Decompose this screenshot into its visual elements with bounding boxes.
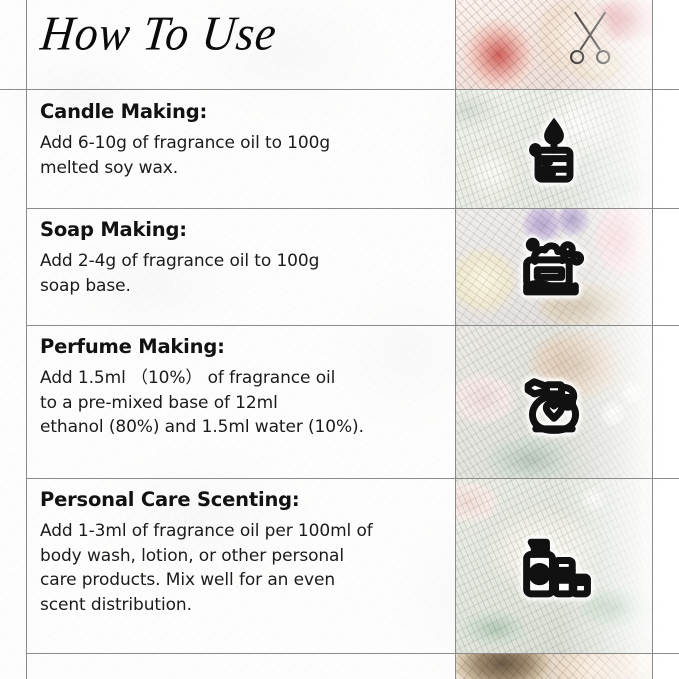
body-line: to a pre-mixed base of 12ml [40, 391, 440, 416]
section-candle-making: Candle Making: Add 6-10g of fragrance oi… [40, 100, 440, 180]
body-line: Add 6-10g of fragrance oil to 100g [40, 131, 440, 156]
section-body-candle-making: Add 6-10g of fragrance oil to 100g melte… [40, 131, 440, 180]
left-margin-rule [26, 0, 27, 679]
divider-soap-perfume [26, 325, 679, 326]
divider-under-title [0, 89, 679, 90]
candle-icon [516, 110, 592, 186]
divider-bottom [26, 653, 679, 654]
page-title: How To Use [38, 5, 280, 61]
how-to-use-infographic: How To Use Candle Making: Add 6-10g of f… [0, 0, 679, 679]
soap-bar-icon [516, 228, 592, 304]
body-line: Add 1.5ml （10%） of fragrance oil [40, 366, 440, 391]
body-line: soap base. [40, 274, 440, 299]
section-heading-soap-making: Soap Making: [40, 218, 440, 241]
body-line: body wash, lotion, or other personal [40, 544, 440, 569]
body-line: melted soy wax. [40, 156, 440, 181]
body-line: ethanol (80%) and 1.5ml water (10%). [40, 415, 440, 440]
body-line: care products. Mix well for an even [40, 568, 440, 593]
section-heading-candle-making: Candle Making: [40, 100, 440, 123]
lotion-bottle-icon [516, 527, 592, 603]
divider-perfume-personal [26, 478, 679, 479]
body-line: Add 1-3ml of fragrance oil per 100ml of [40, 519, 440, 544]
section-heading-personal-care-scenting: Personal Care Scenting: [40, 488, 440, 511]
section-body-soap-making: Add 2-4g of fragrance oil to 100g soap b… [40, 249, 440, 298]
section-perfume-making: Perfume Making: Add 1.5ml （10%） of fragr… [40, 335, 440, 440]
section-personal-care-scenting: Personal Care Scenting: Add 1-3ml of fra… [40, 488, 440, 618]
section-body-personal-care-scenting: Add 1-3ml of fragrance oil per 100ml of … [40, 519, 440, 618]
perfume-bottle-icon [516, 362, 592, 438]
section-soap-making: Soap Making: Add 2-4g of fragrance oil t… [40, 218, 440, 298]
section-body-perfume-making: Add 1.5ml （10%） of fragrance oil to a pr… [40, 366, 440, 440]
body-line: Add 2-4g of fragrance oil to 100g [40, 249, 440, 274]
photo-column-rule [455, 0, 456, 679]
section-heading-perfume-making: Perfume Making: [40, 335, 440, 358]
right-margin-rule [652, 0, 653, 679]
body-line: scent distribution. [40, 593, 440, 618]
divider-candle-soap [26, 208, 679, 209]
